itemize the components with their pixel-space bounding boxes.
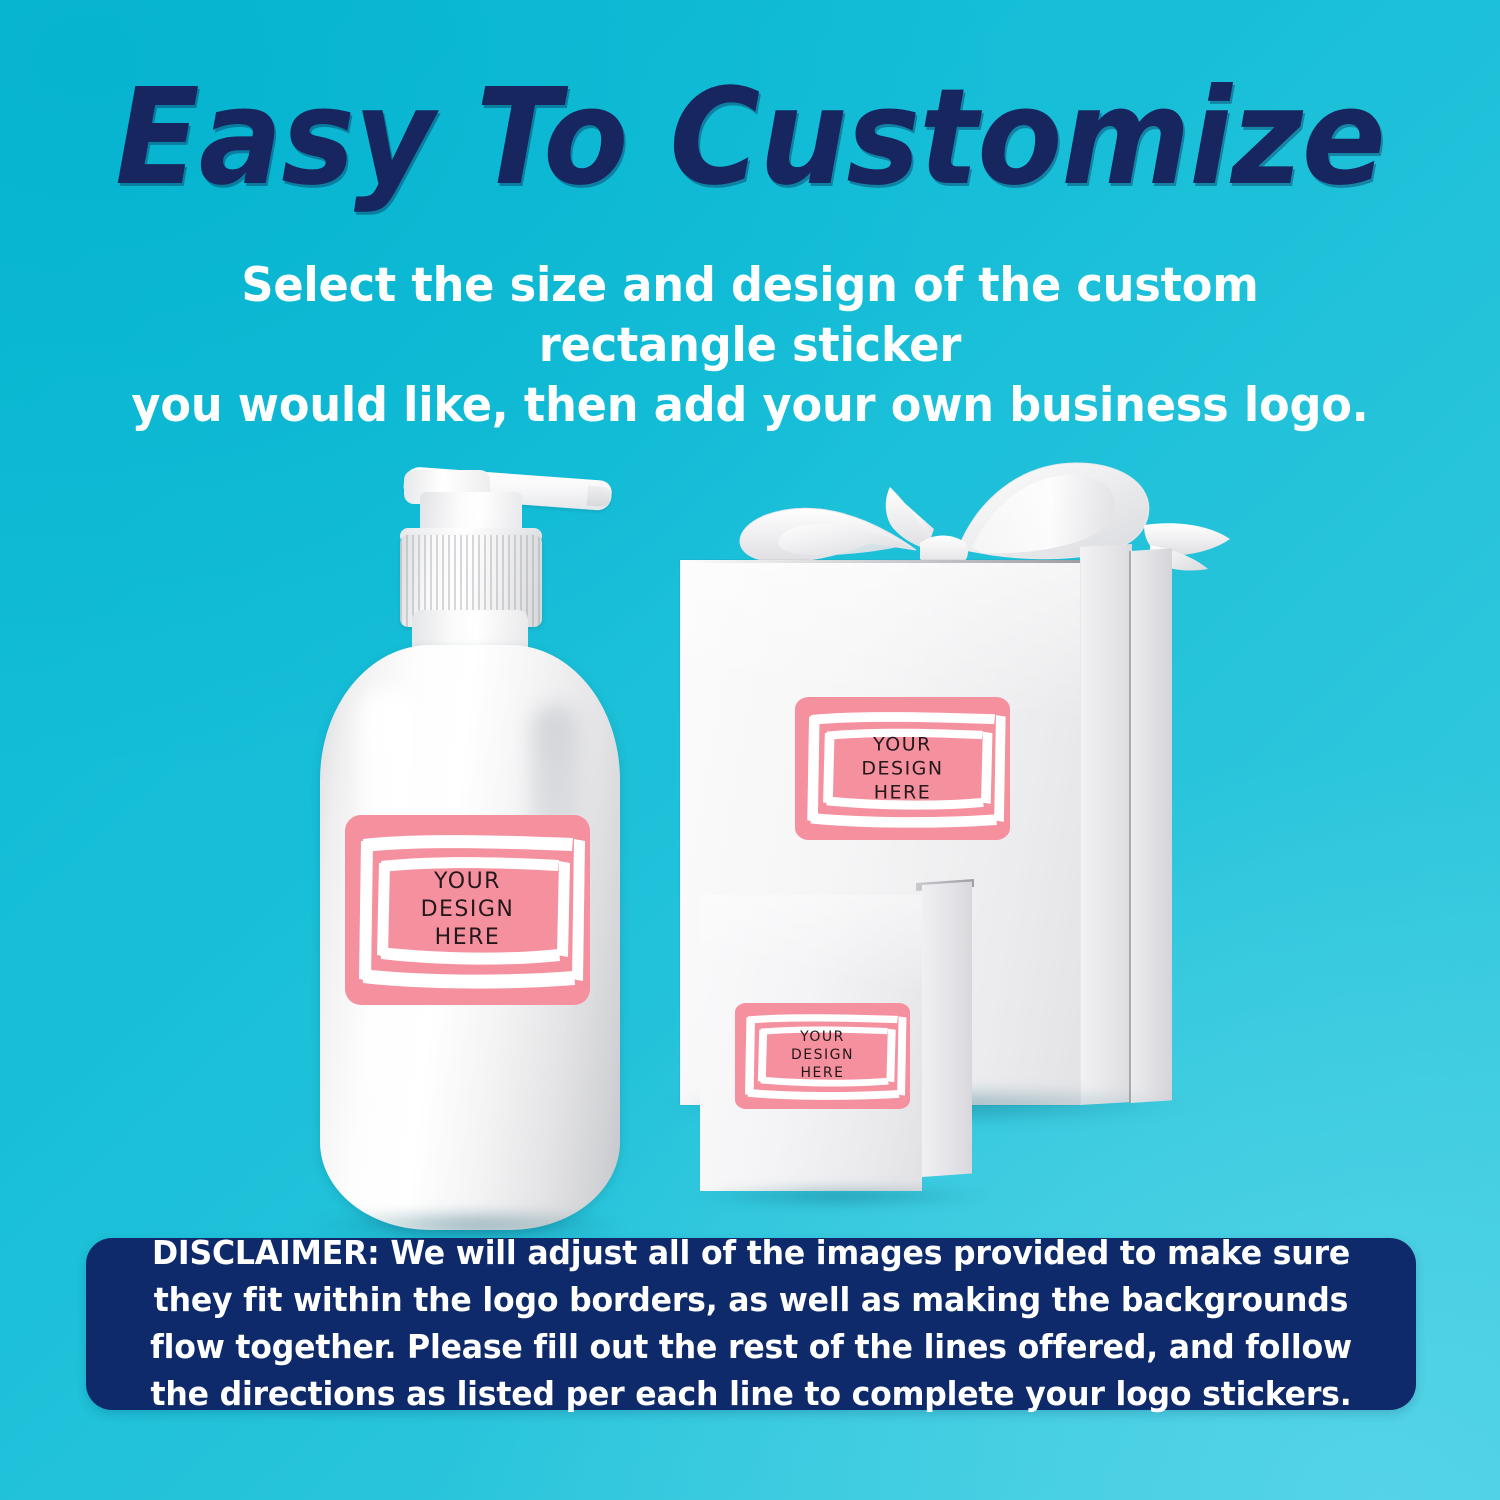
- sticker-line-1: YOUR: [434, 869, 501, 894]
- disclaimer-panel: DISCLAIMER: We will adjust all of the im…: [86, 1238, 1416, 1410]
- sticker-line-3: HERE: [874, 782, 932, 804]
- gift-box-back-face: [1130, 548, 1172, 1103]
- sticker-line-2: DESIGN: [791, 1047, 854, 1063]
- page-title: Easy To Customize: [53, 72, 1448, 205]
- small-box-shadow: [690, 1183, 990, 1209]
- sticker-line-1: YOUR: [873, 733, 932, 755]
- sticker-label-bottle[interactable]: YOUR DESIGN HERE: [345, 815, 590, 1005]
- sticker-label-small-box[interactable]: YOUR DESIGN HERE: [735, 1003, 910, 1109]
- gift-box-lid-line: [680, 560, 1080, 563]
- sticker-label-gift-box[interactable]: YOUR DESIGN HERE: [795, 697, 1010, 840]
- disclaimer-label: DISCLAIMER:: [152, 1234, 380, 1272]
- sticker-line-3: HERE: [801, 1065, 845, 1081]
- sticker-line-2: DESIGN: [421, 897, 515, 922]
- sticker-line-2: DESIGN: [861, 757, 943, 779]
- sticker-text-bottle: YOUR DESIGN HERE: [345, 868, 590, 952]
- disclaimer-text: DISCLAIMER: We will adjust all of the im…: [106, 1230, 1396, 1417]
- subtitle-line-1: Select the size and design of the custom…: [241, 258, 1258, 373]
- promo-banner: Easy To Customize Select the size and de…: [0, 0, 1500, 1500]
- small-box-side-face: [922, 882, 972, 1177]
- sticker-line-3: HERE: [435, 925, 501, 950]
- gift-box-seam: [1129, 551, 1131, 1103]
- gift-box-side-face: [1080, 544, 1132, 1105]
- sticker-line-1: YOUR: [800, 1029, 845, 1045]
- sticker-text-small-box: YOUR DESIGN HERE: [735, 1029, 910, 1083]
- sticker-text-gift-box: YOUR DESIGN HERE: [795, 732, 1010, 805]
